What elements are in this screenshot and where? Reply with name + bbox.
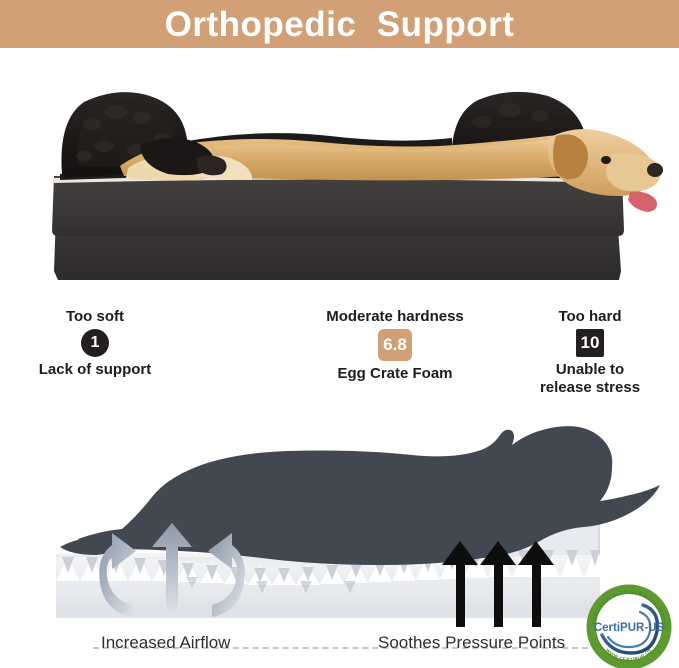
hardness-scale: Too soft 1 Lack of support Moderate hard… — [0, 300, 679, 405]
dog-bed-photo-illustration — [0, 50, 679, 298]
scale-node-bottom-label-line2: release stress — [520, 379, 660, 396]
scale-node-top-label: Too hard — [520, 308, 660, 325]
caption-increased-airflow: Increased Airflow — [101, 634, 230, 651]
scale-node-too-hard: Too hard 10 Unable to release stress — [520, 308, 660, 396]
pressure-point-arrows — [442, 541, 554, 627]
caption-soothes-pressure-points: Soothes Pressure Points — [378, 634, 565, 651]
foam-airflow-diagram — [0, 405, 679, 630]
scale-node-top-label: Too soft — [28, 308, 162, 325]
header-banner: Orthopedic Support — [0, 0, 679, 48]
diagram-captions: Increased Airflow Soothes Pressure Point… — [0, 630, 679, 668]
scale-node-moderate: Moderate hardness 6.8 Egg Crate Foam — [312, 308, 478, 383]
scale-node-bottom-label-line1: Unable to — [520, 361, 660, 378]
scale-node-bottom-label: Egg Crate Foam — [312, 365, 478, 382]
scale-node-top-label: Moderate hardness — [312, 308, 478, 325]
page-title: Orthopedic Support — [165, 7, 515, 42]
product-photo — [0, 50, 679, 298]
scale-node-too-soft: Too soft 1 Lack of support — [28, 308, 162, 379]
scale-node-bottom-label: Lack of support — [28, 361, 162, 378]
scale-marker-1: 1 — [81, 329, 109, 357]
certipur-us-badge: CONTAINS CERTIFIED FLEXIBLE POLYURETHANE… — [585, 583, 673, 668]
badge-wordmark: CertiPUR-US — [594, 622, 665, 634]
scale-marker-10: 10 — [576, 329, 604, 357]
scale-marker-6-8: 6.8 — [378, 329, 412, 361]
infographic-page: Orthopedic Support — [0, 0, 679, 668]
